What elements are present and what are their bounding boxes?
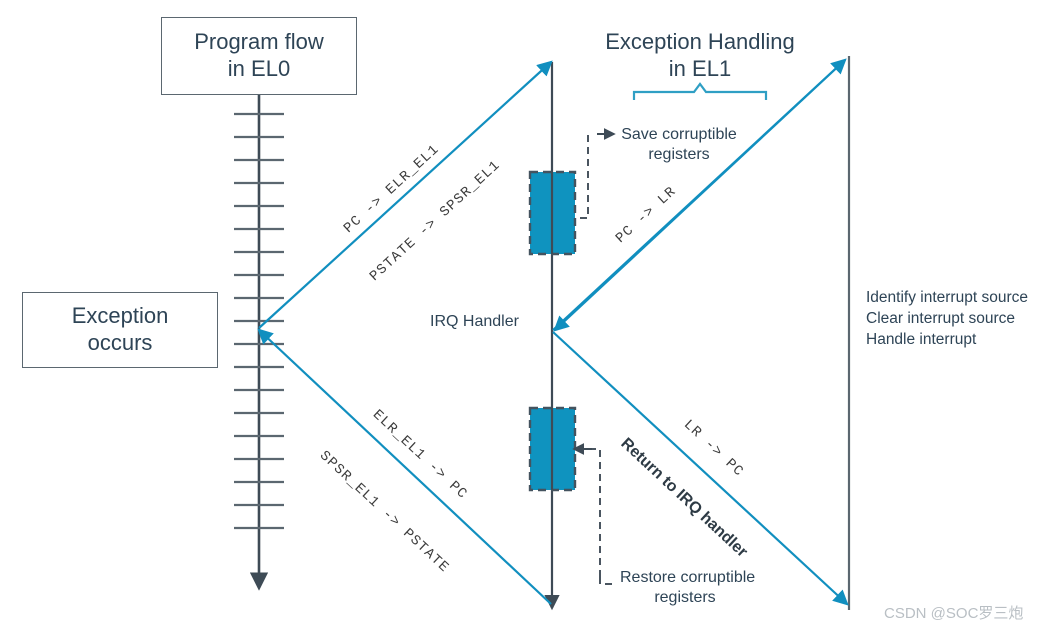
el0-timeline bbox=[234, 95, 284, 588]
label-irq-handler: IRQ Handler bbox=[430, 312, 519, 332]
arrow-handler-return bbox=[555, 60, 845, 330]
box-exception-occurs: Exceptionoccurs bbox=[22, 292, 218, 368]
restore-registers-connector-path bbox=[590, 449, 600, 577]
arrow-exception-entry bbox=[259, 62, 551, 328]
label-save-corruptible-registers: Save corruptibleregisters bbox=[618, 125, 740, 164]
save-registers-connector bbox=[575, 134, 614, 218]
save-registers-connector-path bbox=[575, 135, 588, 218]
box-exception-occurs-label: Exceptionoccurs bbox=[72, 303, 169, 357]
diagram-canvas: Program flowin EL0 Exceptionoccurs Excep… bbox=[0, 0, 1050, 631]
restore-registers-connector bbox=[574, 449, 612, 584]
el1-scope-brace bbox=[634, 84, 766, 100]
stack-block-restore bbox=[530, 408, 575, 490]
el1-scope-brace-path bbox=[634, 84, 766, 100]
title-exception-handling: Exception Handlingin EL1 bbox=[596, 28, 804, 82]
box-program-flow: Program flowin EL0 bbox=[161, 17, 357, 95]
box-program-flow-label: Program flowin EL0 bbox=[194, 29, 324, 83]
arrow-exception-return bbox=[259, 330, 551, 604]
stack-block-save bbox=[530, 172, 575, 254]
label-handler-steps: Identify interrupt sourceClear interrupt… bbox=[866, 288, 1028, 351]
restore-registers-connector-tail bbox=[600, 577, 612, 584]
arrow-return-to-handler bbox=[553, 332, 847, 604]
watermark: CSDN @SOC罗三炮 bbox=[884, 602, 1023, 623]
label-restore-corruptible-registers: Restore corruptibleregisters bbox=[620, 568, 750, 607]
